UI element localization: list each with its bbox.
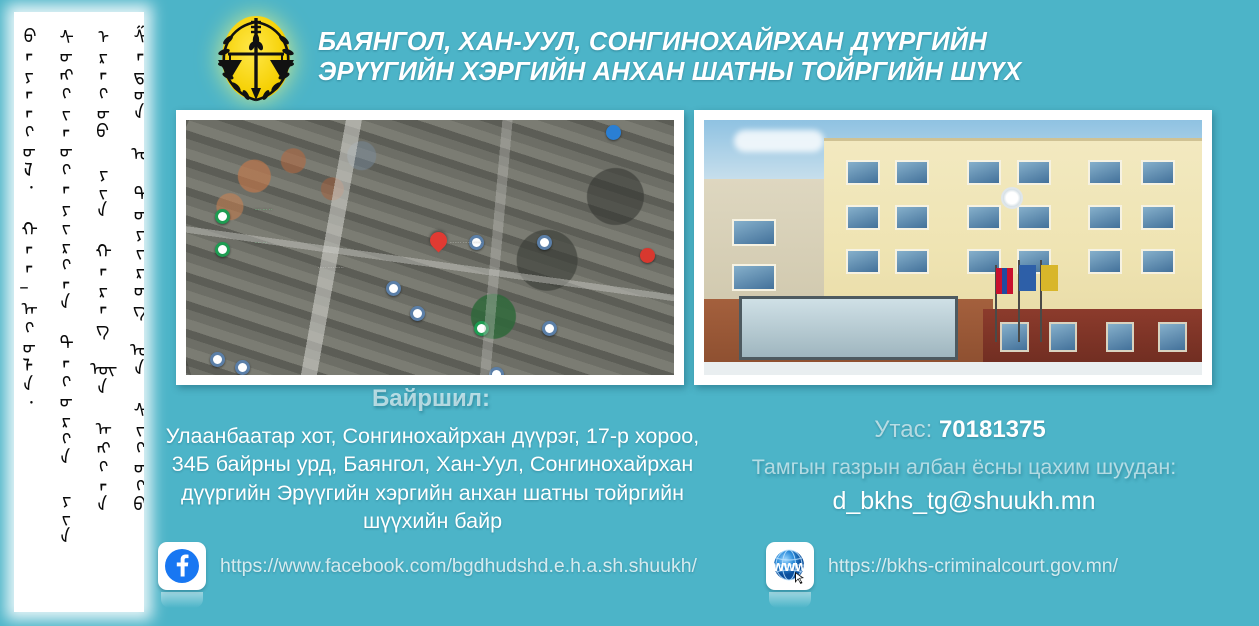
mongolian-flag [996, 268, 1013, 294]
cloud [734, 130, 824, 152]
page-header: БАЯНГОЛ, ХАН-УУЛ, СОНГИНОХАЙРХАН ДҮҮРГИЙ… [160, 8, 1249, 108]
barred-window [1000, 322, 1028, 352]
email-value[interactable]: d_bkhs_tg@shuukh.mn [700, 487, 1228, 516]
barred-window [1049, 322, 1077, 352]
emblem-artwork [208, 10, 304, 106]
mongolian-script-panel: ᠪᠠᠶᠠᠨᠭᠣᠯ᠂ ᠬᠠᠨ‍–ᠠᠭᠤᠯᠠ᠂ ᠰᠣᠩᠭᠢᠨᠣᠬᠠᠶᠢᠷᠬᠠᠨ ᠳᠡ… [14, 12, 144, 612]
map-poi-label: ···· ··· ·· [254, 207, 272, 213]
location-heading: Байршил: [176, 385, 686, 413]
map-poi-marker[interactable] [606, 125, 621, 140]
map-poi-marker[interactable] [215, 242, 230, 257]
barred-window [1106, 322, 1134, 352]
scales-of-justice-emblem [208, 10, 304, 106]
window [1017, 205, 1051, 230]
map-poi-marker[interactable] [386, 281, 401, 296]
building-scene [704, 120, 1202, 375]
email-label: Тамгын газрын албан ёсны цахим шуудан: [700, 455, 1228, 480]
map-poi-marker[interactable] [537, 235, 552, 250]
window [846, 160, 880, 185]
flag [1041, 265, 1058, 291]
facebook-glyph [162, 546, 202, 586]
phone-row: Утас: 70181375 [700, 416, 1220, 444]
map-poi-marker[interactable] [215, 209, 230, 224]
map-poi-label: ····· ···· ····· [318, 265, 344, 271]
window [895, 160, 929, 185]
window [1141, 160, 1175, 185]
map-poi-label: ······· ····· ······ [450, 240, 483, 246]
phone-value: 70181375 [939, 416, 1046, 443]
court-building-photo[interactable] [704, 120, 1202, 375]
map-poi-marker[interactable] [235, 360, 250, 375]
window [1088, 160, 1122, 185]
map-poi-marker[interactable] [489, 367, 504, 375]
satellite-location-map[interactable]: ···· ··· ·· ···· ··· ······· ····· ·····… [186, 120, 674, 375]
location-address: Улаанбаатар хот, Сонгинохайрхан дүүрэг, … [160, 422, 705, 536]
court-location-pin[interactable] [426, 229, 450, 253]
map-frame: ···· ··· ·· ···· ··· ······· ····· ·····… [176, 110, 684, 385]
window [895, 205, 929, 230]
window [846, 205, 880, 230]
building-frame [694, 110, 1212, 385]
map-surface: ···· ··· ·· ···· ··· ······· ····· ·····… [186, 120, 674, 375]
window [1017, 160, 1051, 185]
website-link-row[interactable]: WWW https://bkhs-criminalcourt.gov.mn/ [766, 542, 1118, 590]
map-poi-marker[interactable] [474, 321, 489, 336]
map-poi-marker[interactable] [469, 235, 484, 250]
map-poi-marker[interactable] [410, 306, 425, 321]
www-globe-icon[interactable]: WWW [766, 542, 814, 590]
window [732, 264, 776, 290]
building-base [983, 309, 1202, 368]
page-title: БАЯНГОЛ, ХАН-УУЛ, СОНГИНОХАЙРХАН ДҮҮРГИЙ… [318, 28, 1022, 88]
window [1088, 249, 1122, 274]
map-poi-label: ···· ··· [254, 240, 267, 246]
snow-ground [704, 362, 1202, 375]
facebook-icon[interactable] [158, 542, 206, 590]
window [732, 219, 776, 245]
facebook-url[interactable]: https://www.facebook.com/bgdhudshd.e.h.a… [220, 555, 697, 578]
window [967, 160, 1001, 185]
window [967, 205, 1001, 230]
map-poi-marker[interactable] [542, 321, 557, 336]
website-url[interactable]: https://bkhs-criminalcourt.gov.mn/ [828, 555, 1118, 578]
flag [1019, 265, 1036, 291]
building-entrance [739, 296, 958, 360]
window [846, 249, 880, 274]
window [1141, 249, 1175, 274]
svg-text:WWW: WWW [772, 561, 806, 574]
mongolian-script-text: ᠪᠠᠶᠠᠨᠭᠣᠯ᠂ ᠬᠠᠨ‍–ᠠᠭᠤᠯᠠ᠂ ᠰᠣᠩᠭᠢᠨᠣᠬᠠᠶᠢᠷᠬᠠᠨ ᠳᠡ… [14, 26, 144, 598]
map-poi-marker[interactable] [640, 248, 655, 263]
map-poi-marker[interactable] [210, 352, 225, 367]
window [1088, 205, 1122, 230]
barred-window [1158, 322, 1186, 352]
window [895, 249, 929, 274]
globe-glyph: WWW [769, 545, 811, 587]
facebook-link-row[interactable]: https://www.facebook.com/bgdhudshd.e.h.a… [158, 542, 697, 590]
window [1141, 205, 1175, 230]
phone-label: Утас: [874, 416, 932, 443]
